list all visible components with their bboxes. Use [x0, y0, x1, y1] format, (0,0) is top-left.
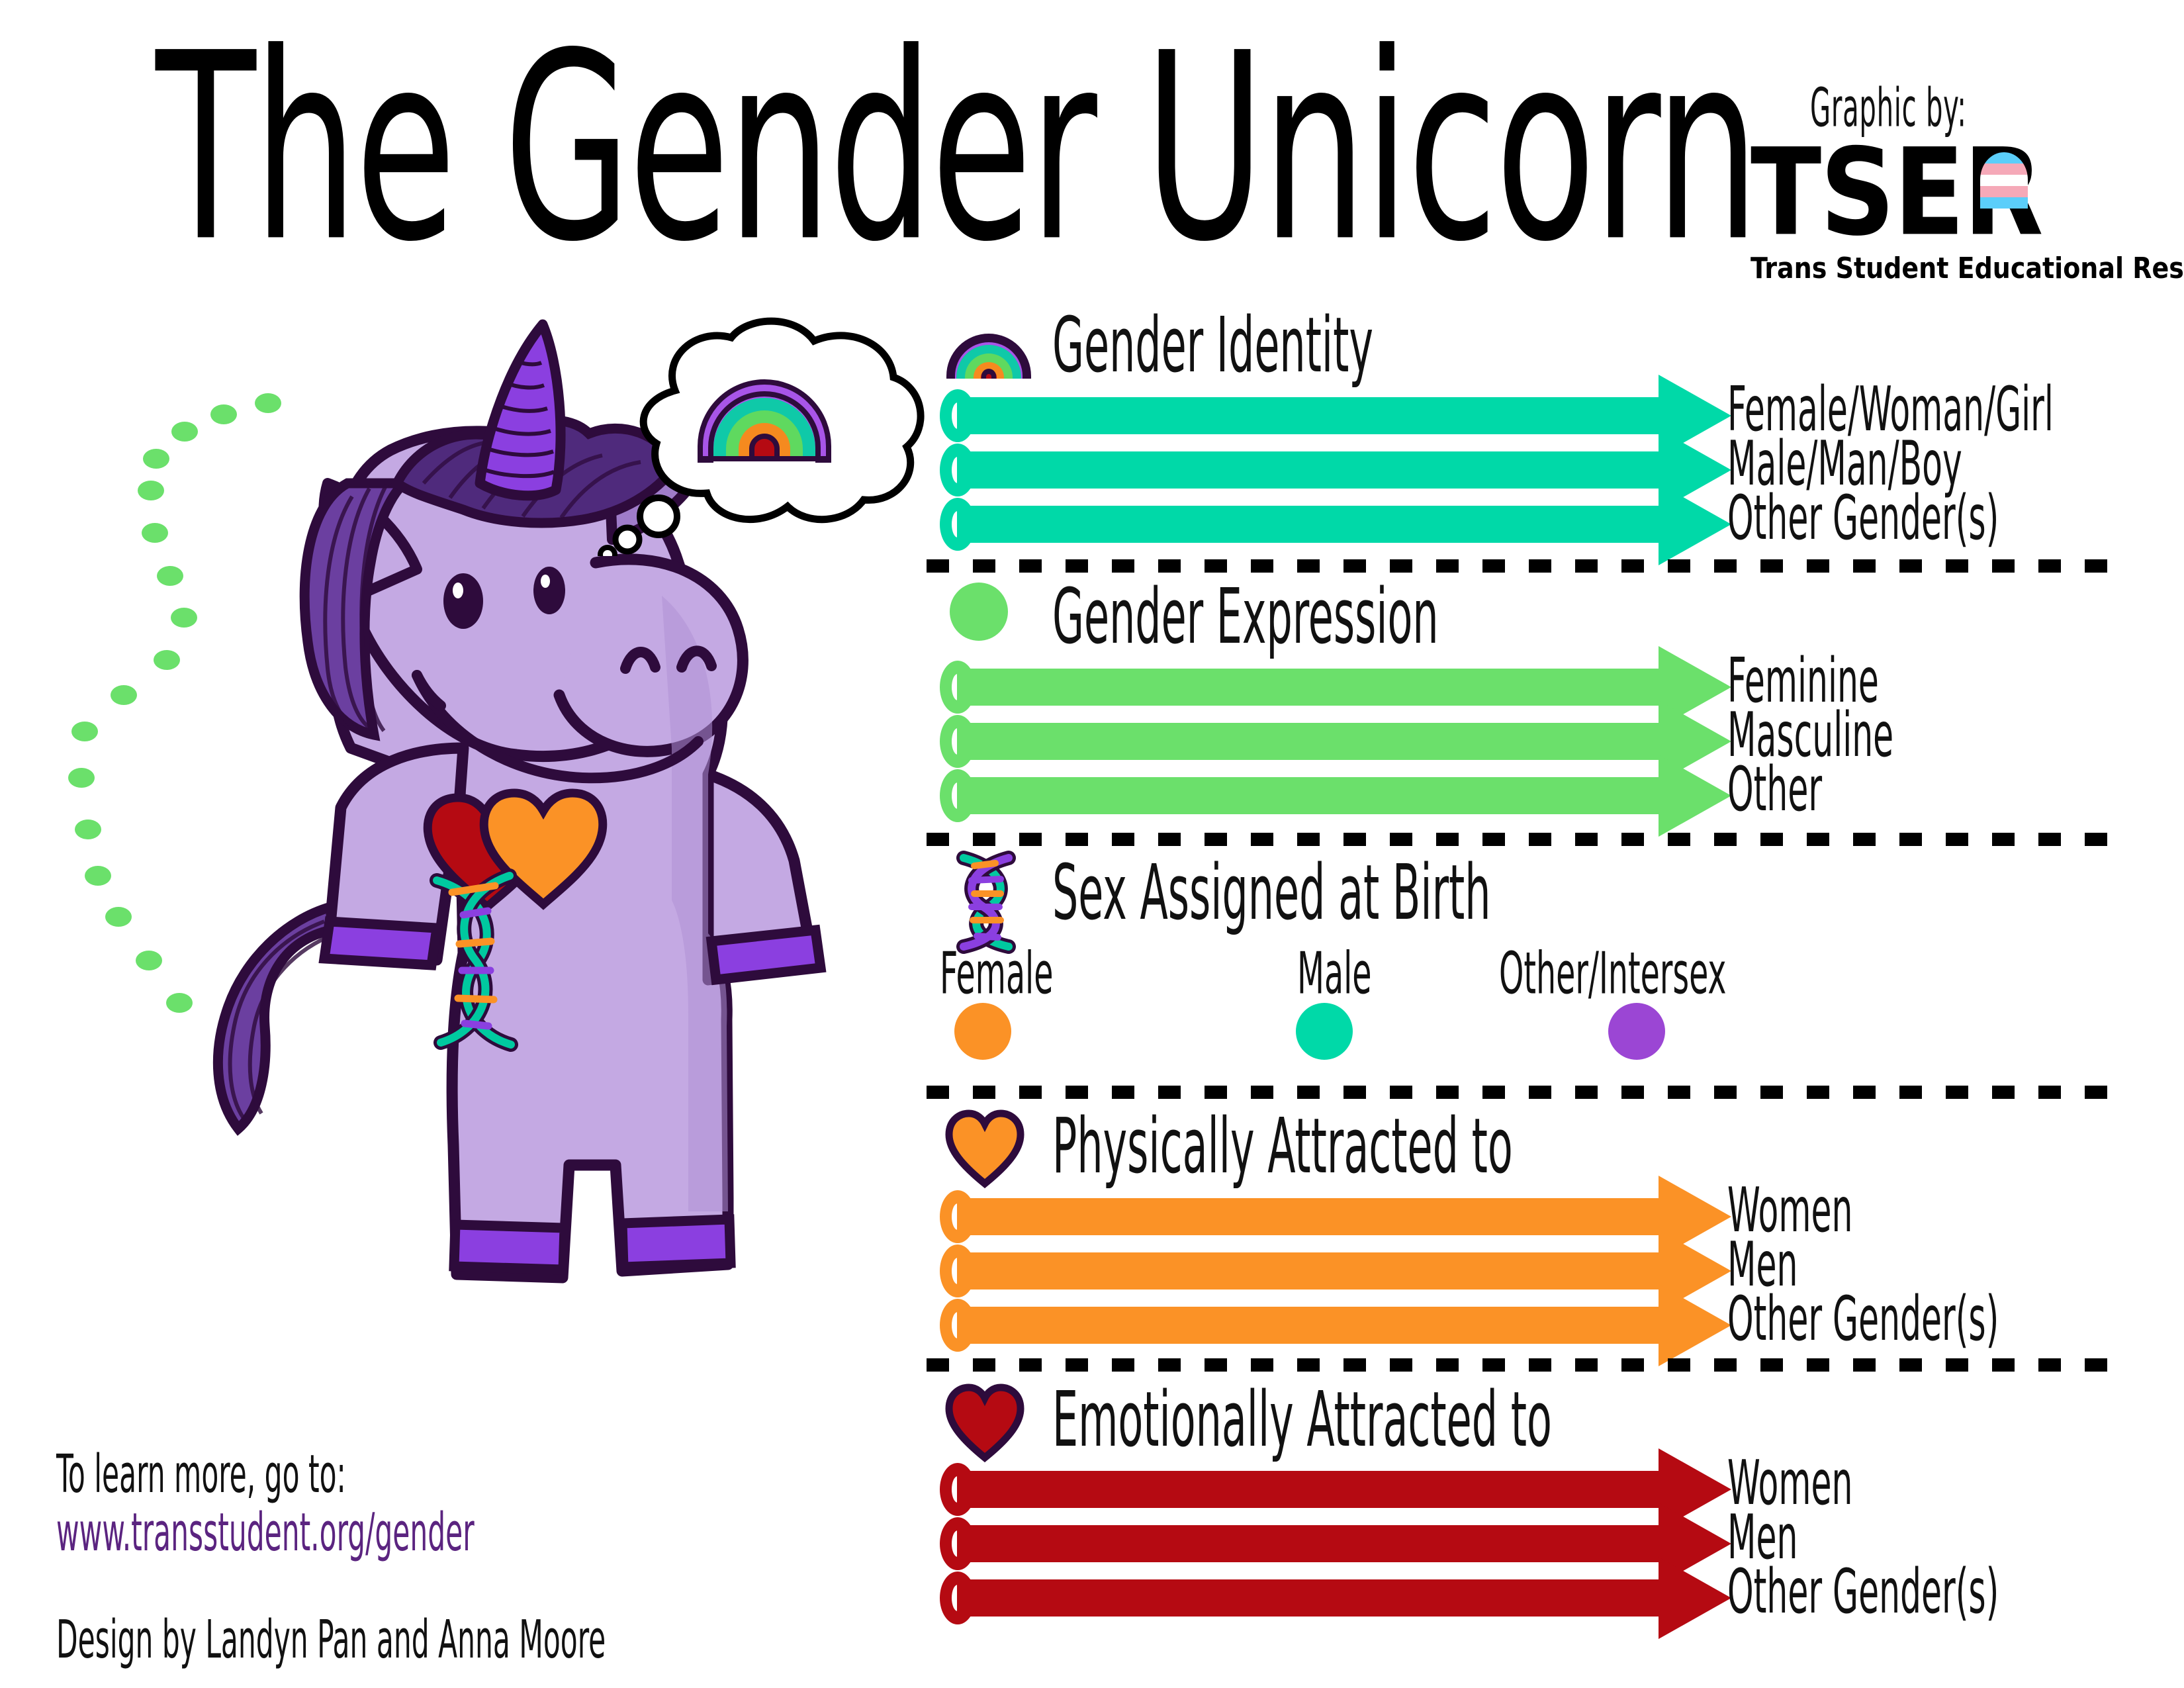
sex-assigned-at-birth-dots: Female Male Other/Intersex	[940, 940, 2131, 1072]
physically-attracted-arrows: Women Men Other Gender(s)	[940, 1198, 2131, 1357]
page-title: The Gender Unicorn	[156, 7, 1556, 325]
arrow-shaft	[957, 451, 1659, 489]
arrow-row	[940, 451, 1721, 489]
section-heading-sex-assigned-at-birth: Sex Assigned at Birth	[1052, 849, 1491, 937]
section-divider	[927, 1086, 2111, 1099]
green-circle-icon	[950, 583, 1008, 641]
section-divider	[927, 559, 2111, 573]
arrow-row	[940, 777, 1721, 814]
arrow-shaft	[957, 723, 1659, 760]
arrow-shaft	[957, 1198, 1659, 1235]
section-heading-gender-expression: Gender Expression	[1052, 573, 1439, 661]
option-label: Other Gender(s)	[1727, 482, 1999, 553]
arrow-row	[940, 506, 1721, 543]
tser-full-name: Trans Student Educational Resources	[1751, 252, 2184, 285]
option-label: Other Gender(s)	[1727, 1283, 1999, 1354]
section-divider	[927, 833, 2111, 846]
sab-option-label: Other/Intersex	[1499, 940, 1727, 1008]
thought-bubble	[596, 305, 927, 556]
trans-flag-icon	[1980, 152, 2028, 209]
gender-identity-arrows: Female/Woman/Girl Male/Man/Boy Other Gen…	[940, 397, 2131, 556]
sab-option-dot	[954, 1003, 1011, 1060]
arrow-row	[940, 1198, 1721, 1235]
transstudent-url-link[interactable]: www.transstudent.org/gender	[56, 1501, 475, 1563]
red-heart-icon	[945, 1383, 1024, 1463]
option-label: Other	[1727, 753, 1822, 825]
arrow-shaft	[957, 506, 1659, 543]
arrow-row	[940, 1307, 1721, 1344]
gender-expression-arrows: Feminine Masculine Other	[940, 669, 2131, 827]
section-heading-gender-identity: Gender Identity	[1052, 301, 1373, 390]
arrow-head	[1659, 483, 1731, 565]
arrow-row	[940, 1471, 1721, 1508]
option-label: Other Gender(s)	[1727, 1556, 1999, 1627]
section-divider	[927, 1358, 2111, 1372]
arrow-shaft	[957, 1307, 1659, 1344]
arrow-shaft	[957, 669, 1659, 706]
arrow-row	[940, 669, 1721, 706]
sab-option-label: Male	[1297, 940, 1372, 1008]
arrow-shaft	[957, 1471, 1659, 1508]
arrow-head	[1659, 1557, 1731, 1639]
arrow-row	[940, 1252, 1721, 1289]
arrow-head	[1659, 1284, 1731, 1366]
arrow-shaft	[957, 777, 1659, 814]
arrow-shaft	[957, 1252, 1659, 1289]
section-heading-emotionally-attracted-to: Emotionally Attracted to	[1052, 1376, 1552, 1464]
sab-option-dot	[1608, 1003, 1665, 1060]
arrow-row	[940, 1579, 1721, 1617]
arrow-shaft	[957, 1579, 1659, 1617]
arrow-shaft	[957, 397, 1659, 434]
sab-option-dot	[1296, 1003, 1353, 1060]
arrow-head	[1659, 755, 1731, 837]
tser-abbr: TSER	[1751, 132, 2109, 252]
tser-logo: TSER	[1751, 132, 2095, 252]
arrow-row	[940, 723, 1721, 760]
learn-more-label: To learn more, go to:	[56, 1443, 346, 1505]
sab-option-label: Female	[940, 940, 1054, 1008]
dna-icon	[945, 846, 1024, 955]
emotionally-attracted-arrows: Women Men Other Gender(s)	[940, 1471, 2131, 1630]
arrow-row	[940, 397, 1721, 434]
arrow-shaft	[957, 1525, 1659, 1562]
design-credit: Design by Landyn Pan and Anna Moore	[56, 1609, 606, 1670]
section-heading-physically-attracted-to: Physically Attracted to	[1052, 1102, 1513, 1191]
rainbow-icon	[942, 310, 1035, 381]
arrow-row	[940, 1525, 1721, 1562]
orange-heart-icon	[945, 1109, 1024, 1189]
